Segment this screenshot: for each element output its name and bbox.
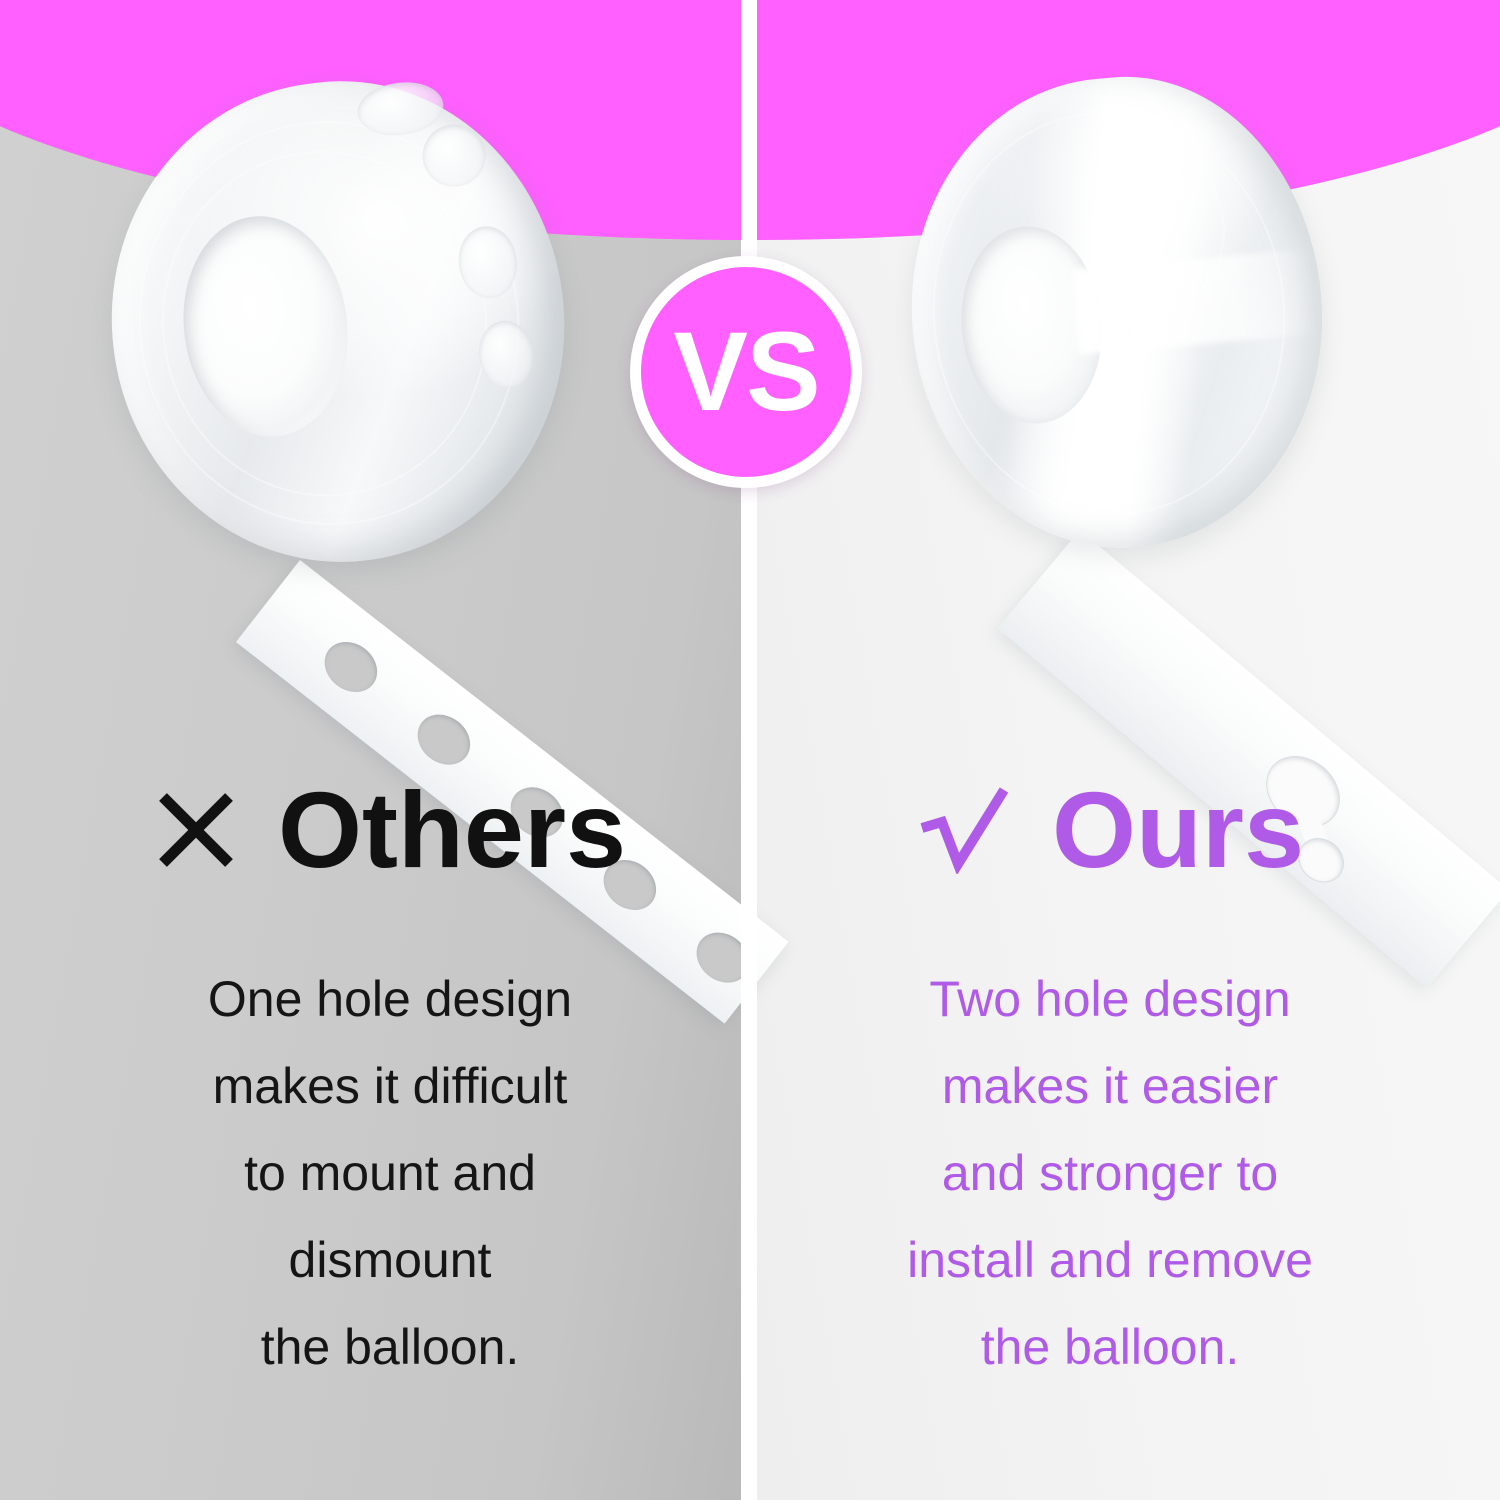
ours-description-line: Two hole design — [760, 956, 1460, 1043]
others-description: One hole design makes it difficult to mo… — [40, 956, 740, 1391]
others-description-line: to mount and — [40, 1130, 740, 1217]
panel-divider — [741, 0, 757, 1500]
cross-icon — [154, 788, 238, 872]
ours-description-line: the balloon. — [760, 1304, 1460, 1391]
strip-hole — [315, 632, 387, 703]
strip-hole — [408, 704, 480, 775]
ours-description-line: install and remove — [760, 1217, 1460, 1304]
vs-badge-label: VS — [673, 316, 818, 428]
others-description-line: the balloon. — [40, 1304, 740, 1391]
others-description-line: One hole design — [40, 956, 740, 1043]
others-heading-label: Others — [278, 776, 626, 884]
others-heading-row: Others — [40, 770, 740, 890]
ours-heading-row: Ours — [760, 770, 1460, 890]
vs-badge-icon: VS — [630, 256, 862, 488]
tape-roll-two-hole — [892, 61, 1341, 565]
ours-description-line: makes it easier — [760, 1043, 1460, 1130]
ours-description: Two hole design makes it easier and stro… — [760, 956, 1460, 1391]
right-content-column: Ours Two hole design makes it easier and… — [760, 770, 1460, 1391]
tape-roll-one-hole — [84, 56, 591, 588]
others-description-line: dismount — [40, 1217, 740, 1304]
ours-heading-label: Ours — [1052, 776, 1304, 884]
left-content-column: Others One hole design makes it difficul… — [40, 770, 740, 1391]
ours-description-line: and stronger to — [760, 1130, 1460, 1217]
check-icon — [916, 786, 1012, 874]
comparison-infographic: VS Others One hole design makes it diffi… — [0, 0, 1500, 1500]
others-description-line: makes it difficult — [40, 1043, 740, 1130]
